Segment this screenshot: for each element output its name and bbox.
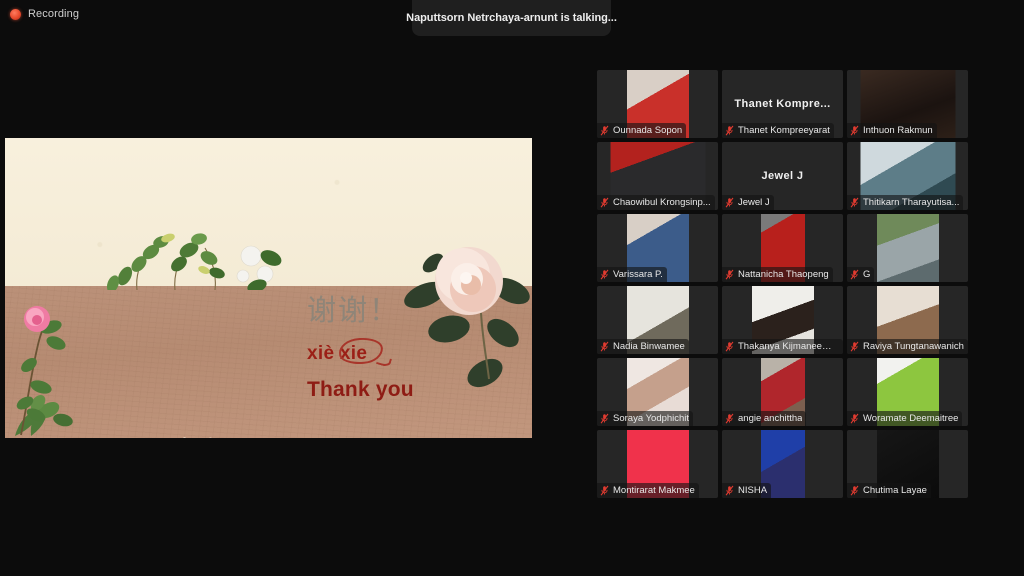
recording-indicator[interactable]: Recording bbox=[10, 8, 79, 20]
mic-muted-icon bbox=[850, 125, 859, 136]
participant-name: Ounnada Sopon bbox=[613, 125, 682, 136]
participant-tile[interactable]: Woramate Deemaitree bbox=[847, 358, 968, 426]
participant-namebar: Varissara P. bbox=[597, 267, 667, 282]
mic-muted-icon bbox=[600, 485, 609, 496]
participant-namebar: G bbox=[847, 267, 874, 282]
plant-sprigs-icon bbox=[65, 218, 325, 290]
active-speaker-banner: Naputtsorn Netrchaya-arnunt is talking..… bbox=[412, 0, 611, 36]
participant-namebar: Thakanya Kijmaneemas bbox=[722, 339, 843, 354]
participant-name: Thitikarn Tharayutisa... bbox=[863, 197, 959, 208]
mic-muted-icon bbox=[725, 197, 734, 208]
top-bar: Recording Naputtsorn Netrchaya-arnunt is… bbox=[0, 0, 1024, 42]
participant-namebar: Chaowibul Krongsinp... bbox=[597, 195, 715, 210]
participant-name: NISHA bbox=[738, 485, 767, 496]
recording-label: Recording bbox=[28, 8, 79, 20]
participant-tile[interactable]: Thanet Kompre... Thanet Kompreeyarat bbox=[722, 70, 843, 138]
mic-muted-icon bbox=[850, 197, 859, 208]
participant-tile[interactable]: Inthuon Rakmun bbox=[847, 70, 968, 138]
participant-name: Varissara P. bbox=[613, 269, 663, 280]
mic-muted-icon bbox=[725, 125, 734, 136]
mic-muted-icon bbox=[725, 269, 734, 280]
video-thumbnail bbox=[877, 214, 939, 282]
participant-tile[interactable]: Raviya Tungtanawanich bbox=[847, 286, 968, 354]
participant-name: Inthuon Rakmun bbox=[863, 125, 933, 136]
slide-lower-panel bbox=[5, 286, 532, 438]
slide-english-thankyou: Thank you bbox=[307, 378, 414, 402]
participant-tile[interactable]: G bbox=[847, 214, 968, 282]
participant-namebar: Chutima Layae bbox=[847, 483, 931, 498]
participant-tile[interactable]: Chutima Layae bbox=[847, 430, 968, 498]
mic-muted-icon bbox=[600, 125, 609, 136]
mic-muted-icon bbox=[600, 413, 609, 424]
participant-tile[interactable]: Thitikarn Tharayutisa... bbox=[847, 142, 968, 210]
participant-name: angie anchittha bbox=[738, 413, 802, 424]
participant-name: Nattanicha Thaopeng bbox=[738, 269, 829, 280]
participant-name: Soraya Yodphichit bbox=[613, 413, 689, 424]
mic-muted-icon bbox=[850, 341, 859, 352]
mic-muted-icon bbox=[725, 413, 734, 424]
participant-tile[interactable]: Varissara P. bbox=[597, 214, 718, 282]
mic-muted-icon bbox=[850, 485, 859, 496]
participant-tile[interactable]: Chaowibul Krongsinp... bbox=[597, 142, 718, 210]
foliage-decoration-icon bbox=[5, 348, 265, 438]
mic-muted-icon bbox=[600, 341, 609, 352]
slide-chinese-thankyou: 谢谢！ bbox=[307, 296, 400, 325]
participant-name: Thanet Kompreeyarat bbox=[738, 125, 830, 136]
participant-namebar: angie anchittha bbox=[722, 411, 806, 426]
participant-namebar: Nattanicha Thaopeng bbox=[722, 267, 833, 282]
participant-namebar: Nadia Binwamee bbox=[597, 339, 689, 354]
participant-name: Nadia Binwamee bbox=[613, 341, 685, 352]
participant-grid: Ounnada Sopon Thanet Kompre... Thanet Ko… bbox=[597, 70, 967, 506]
mic-muted-icon bbox=[600, 197, 609, 208]
participant-namebar: Jewel J bbox=[722, 195, 774, 210]
participant-name: Jewel J bbox=[738, 197, 770, 208]
participant-tile[interactable]: Nadia Binwamee bbox=[597, 286, 718, 354]
participant-tile[interactable]: Ounnada Sopon bbox=[597, 70, 718, 138]
participant-tile[interactable]: angie anchittha bbox=[722, 358, 843, 426]
zoom-meeting-window: Recording Naputtsorn Netrchaya-arnunt is… bbox=[0, 0, 1024, 576]
participant-namebar: Ounnada Sopon bbox=[597, 123, 686, 138]
participant-namebar: Montirarat Makmee bbox=[597, 483, 699, 498]
participant-name: Chutima Layae bbox=[863, 485, 927, 496]
mic-muted-icon bbox=[725, 341, 734, 352]
participant-namebar: Inthuon Rakmun bbox=[847, 123, 937, 138]
participant-namebar: Thanet Kompreeyarat bbox=[722, 123, 834, 138]
mic-muted-icon bbox=[725, 485, 734, 496]
record-dot-icon bbox=[10, 9, 21, 20]
participant-name: Montirarat Makmee bbox=[613, 485, 695, 496]
participant-tile[interactable]: Soraya Yodphichit bbox=[597, 358, 718, 426]
participant-namebar: Woramate Deemaitree bbox=[847, 411, 962, 426]
participant-name: Chaowibul Krongsinp... bbox=[613, 197, 711, 208]
participant-namebar: Raviya Tungtanawanich bbox=[847, 339, 968, 354]
mic-muted-icon bbox=[850, 269, 859, 280]
participant-name: Thakanya Kijmaneemas bbox=[738, 341, 839, 352]
participant-tile[interactable]: Jewel J Jewel J bbox=[722, 142, 843, 210]
participant-name: Woramate Deemaitree bbox=[863, 413, 958, 424]
shared-screen-slide[interactable]: 谢谢！ xiè xie Thank you 不客气！ bú kè qi You'… bbox=[5, 138, 532, 438]
participant-tile[interactable]: Montirarat Makmee bbox=[597, 430, 718, 498]
participant-namebar: Soraya Yodphichit bbox=[597, 411, 693, 426]
active-speaker-text: Naputtsorn Netrchaya-arnunt is talking..… bbox=[406, 12, 617, 24]
participant-tile[interactable]: Nattanicha Thaopeng bbox=[722, 214, 843, 282]
participant-tile[interactable]: NISHA bbox=[722, 430, 843, 498]
mic-muted-icon bbox=[850, 413, 859, 424]
participant-namebar: NISHA bbox=[722, 483, 771, 498]
mic-muted-icon bbox=[600, 269, 609, 280]
participant-tile[interactable]: Thakanya Kijmaneemas bbox=[722, 286, 843, 354]
participant-name: G bbox=[863, 269, 870, 280]
participant-name: Raviya Tungtanawanich bbox=[863, 341, 964, 352]
participant-namebar: Thitikarn Tharayutisa... bbox=[847, 195, 963, 210]
